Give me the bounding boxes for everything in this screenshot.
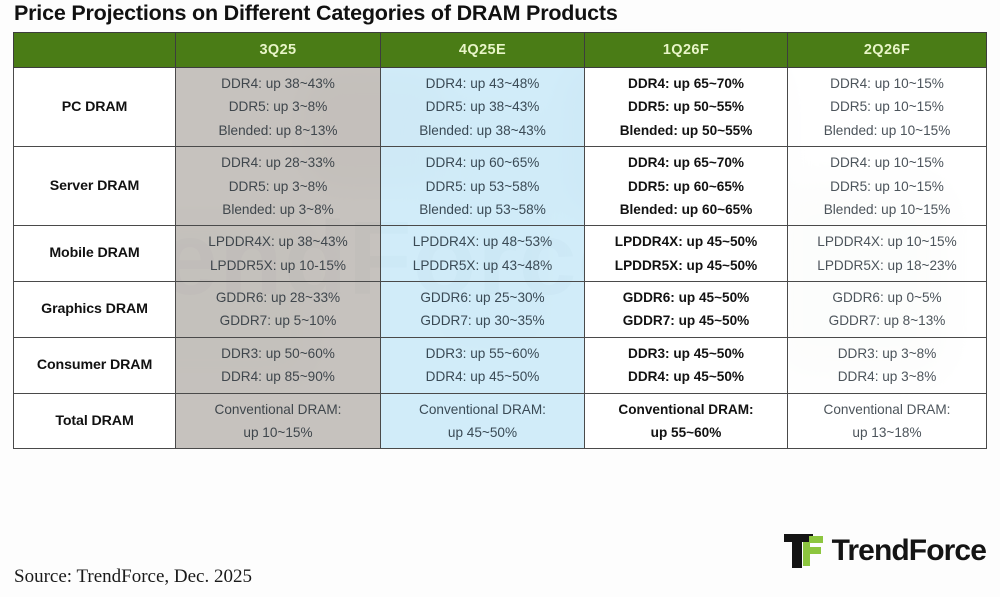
cell-line: Conventional DRAM: — [790, 398, 984, 421]
cell-line: DDR4: up 28~33% — [178, 151, 378, 174]
cell-line: LPDDR4X: up 48~53% — [383, 230, 582, 253]
cell-line: DDR5: up 50~55% — [587, 95, 785, 118]
cell-graphics-dram-4q25e: GDDR6: up 25~30%GDDR7: up 30~35% — [381, 282, 585, 338]
cell-line: Blended: up 8~13% — [178, 119, 378, 142]
cell-line: DDR5: up 3~8% — [178, 175, 378, 198]
row-header-graphics-dram: Graphics DRAM — [14, 282, 176, 338]
cell-consumer-dram-2q26f: DDR3: up 3~8%DDR4: up 3~8% — [788, 337, 987, 393]
cell-line: DDR5: up 38~43% — [383, 95, 582, 118]
cell-line: Blended: up 10~15% — [790, 198, 984, 221]
cell-consumer-dram-3q25: DDR3: up 50~60%DDR4: up 85~90% — [176, 337, 381, 393]
cell-line: Blended: up 60~65% — [587, 198, 785, 221]
cell-line: DDR3: up 3~8% — [790, 342, 984, 365]
cell-consumer-dram-1q26f: DDR3: up 45~50%DDR4: up 45~50% — [585, 337, 788, 393]
cell-line: DDR4: up 60~65% — [383, 151, 582, 174]
cell-line: DDR4: up 65~70% — [587, 72, 785, 95]
price-projection-table: 3Q25 4Q25E 1Q26F 2Q26F PC DRAMDDR4: up 3… — [13, 32, 986, 449]
cell-graphics-dram-3q25: GDDR6: up 28~33%GDDR7: up 5~10% — [176, 282, 381, 338]
cell-line: LPDDR4X: up 10~15% — [790, 230, 984, 253]
cell-mobile-dram-1q26f: LPDDR4X: up 45~50%LPDDR5X: up 45~50% — [585, 226, 788, 282]
cell-server-dram-3q25: DDR4: up 28~33%DDR5: up 3~8%Blended: up … — [176, 147, 381, 226]
table-row: Server DRAMDDR4: up 28~33%DDR5: up 3~8%B… — [14, 147, 987, 226]
table-row: Consumer DRAMDDR3: up 50~60%DDR4: up 85~… — [14, 337, 987, 393]
cell-line: DDR4: up 38~43% — [178, 72, 378, 95]
header-cell-corner — [14, 33, 176, 68]
cell-line: DDR4: up 3~8% — [790, 365, 984, 388]
row-header-pc-dram: PC DRAM — [14, 68, 176, 147]
cell-line: Blended: up 38~43% — [383, 119, 582, 142]
cell-server-dram-1q26f: DDR4: up 65~70%DDR5: up 60~65%Blended: u… — [585, 147, 788, 226]
cell-line: GDDR7: up 45~50% — [587, 309, 785, 332]
cell-pc-dram-3q25: DDR4: up 38~43%DDR5: up 3~8%Blended: up … — [176, 68, 381, 147]
cell-pc-dram-1q26f: DDR4: up 65~70%DDR5: up 50~55%Blended: u… — [585, 68, 788, 147]
cell-line: LPDDR4X: up 45~50% — [587, 230, 785, 253]
row-header-total-dram: Total DRAM — [14, 393, 176, 449]
header-cell-1q26f: 1Q26F — [585, 33, 788, 68]
header-cell-3q25: 3Q25 — [176, 33, 381, 68]
cell-mobile-dram-2q26f: LPDDR4X: up 10~15%LPDDR5X: up 18~23% — [788, 226, 987, 282]
cell-line: LPDDR5X: up 10-15% — [178, 254, 378, 277]
cell-line: GDDR6: up 25~30% — [383, 286, 582, 309]
cell-mobile-dram-4q25e: LPDDR4X: up 48~53%LPDDR5X: up 43~48% — [381, 226, 585, 282]
page-title: Price Projections on Different Categorie… — [14, 1, 618, 26]
cell-server-dram-2q26f: DDR4: up 10~15%DDR5: up 10~15%Blended: u… — [788, 147, 987, 226]
cell-consumer-dram-4q25e: DDR3: up 55~60%DDR4: up 45~50% — [381, 337, 585, 393]
cell-pc-dram-2q26f: DDR4: up 10~15%DDR5: up 10~15%Blended: u… — [788, 68, 987, 147]
cell-line: Blended: up 10~15% — [790, 119, 984, 142]
dram-price-table: 3Q25 4Q25E 1Q26F 2Q26F PC DRAMDDR4: up 3… — [13, 32, 987, 449]
table-row: Graphics DRAMGDDR6: up 28~33%GDDR7: up 5… — [14, 282, 987, 338]
row-header-consumer-dram: Consumer DRAM — [14, 337, 176, 393]
cell-line: DDR4: up 43~48% — [383, 72, 582, 95]
cell-graphics-dram-1q26f: GDDR6: up 45~50%GDDR7: up 45~50% — [585, 282, 788, 338]
cell-line: GDDR6: up 45~50% — [587, 286, 785, 309]
cell-line: DDR4: up 85~90% — [178, 365, 378, 388]
cell-line: LPDDR5X: up 43~48% — [383, 254, 582, 277]
cell-line: GDDR7: up 30~35% — [383, 309, 582, 332]
cell-line: LPDDR5X: up 18~23% — [790, 254, 984, 277]
cell-line: GDDR6: up 0~5% — [790, 286, 984, 309]
cell-line: Blended: up 3~8% — [178, 198, 378, 221]
cell-line: DDR4: up 45~50% — [587, 365, 785, 388]
cell-line: DDR4: up 10~15% — [790, 72, 984, 95]
cell-line: LPDDR4X: up 38~43% — [178, 230, 378, 253]
cell-total-dram-1q26f: Conventional DRAM:up 55~60% — [585, 393, 788, 449]
cell-line: GDDR6: up 28~33% — [178, 286, 378, 309]
cell-line: up 10~15% — [178, 421, 378, 444]
cell-line: Blended: up 50~55% — [587, 119, 785, 142]
cell-line: GDDR7: up 8~13% — [790, 309, 984, 332]
cell-server-dram-4q25e: DDR4: up 60~65%DDR5: up 53~58%Blended: u… — [381, 147, 585, 226]
cell-line: GDDR7: up 5~10% — [178, 309, 378, 332]
cell-total-dram-2q26f: Conventional DRAM:up 13~18% — [788, 393, 987, 449]
source-caption: Source: TrendForce, Dec. 2025 — [14, 566, 252, 588]
trendforce-logo: TrendForce — [783, 533, 986, 569]
cell-line: DDR4: up 45~50% — [383, 365, 582, 388]
row-header-mobile-dram: Mobile DRAM — [14, 226, 176, 282]
cell-line: Conventional DRAM: — [587, 398, 785, 421]
cell-line: DDR4: up 10~15% — [790, 151, 984, 174]
cell-line: Conventional DRAM: — [383, 398, 582, 421]
header-cell-4q25e: 4Q25E — [381, 33, 585, 68]
cell-line: DDR4: up 65~70% — [587, 151, 785, 174]
cell-line: DDR5: up 53~58% — [383, 175, 582, 198]
cell-line: Conventional DRAM: — [178, 398, 378, 421]
table-row: PC DRAMDDR4: up 38~43%DDR5: up 3~8%Blend… — [14, 68, 987, 147]
cell-line: DDR5: up 60~65% — [587, 175, 785, 198]
header-row: 3Q25 4Q25E 1Q26F 2Q26F — [14, 33, 987, 68]
cell-line: DDR5: up 3~8% — [178, 95, 378, 118]
table-body: PC DRAMDDR4: up 38~43%DDR5: up 3~8%Blend… — [14, 68, 987, 449]
cell-line: Blended: up 53~58% — [383, 198, 582, 221]
cell-line: up 55~60% — [587, 421, 785, 444]
cell-line: DDR3: up 55~60% — [383, 342, 582, 365]
cell-line: up 13~18% — [790, 421, 984, 444]
cell-line: DDR5: up 10~15% — [790, 95, 984, 118]
cell-line: up 45~50% — [383, 421, 582, 444]
page-root: TrendForce Price Projections on Differen… — [0, 0, 1000, 597]
table-row: Mobile DRAMLPDDR4X: up 38~43%LPDDR5X: up… — [14, 226, 987, 282]
cell-graphics-dram-2q26f: GDDR6: up 0~5%GDDR7: up 8~13% — [788, 282, 987, 338]
cell-total-dram-4q25e: Conventional DRAM:up 45~50% — [381, 393, 585, 449]
trendforce-logo-mark — [783, 533, 825, 569]
table-row: Total DRAMConventional DRAM:up 10~15%Con… — [14, 393, 987, 449]
header-cell-2q26f: 2Q26F — [788, 33, 987, 68]
cell-line: DDR3: up 50~60% — [178, 342, 378, 365]
cell-pc-dram-4q25e: DDR4: up 43~48%DDR5: up 38~43%Blended: u… — [381, 68, 585, 147]
cell-line: LPDDR5X: up 45~50% — [587, 254, 785, 277]
table-header: 3Q25 4Q25E 1Q26F 2Q26F — [14, 33, 987, 68]
trendforce-logo-text: TrendForce — [832, 536, 986, 566]
cell-mobile-dram-3q25: LPDDR4X: up 38~43%LPDDR5X: up 10-15% — [176, 226, 381, 282]
cell-total-dram-3q25: Conventional DRAM:up 10~15% — [176, 393, 381, 449]
cell-line: DDR3: up 45~50% — [587, 342, 785, 365]
row-header-server-dram: Server DRAM — [14, 147, 176, 226]
cell-line: DDR5: up 10~15% — [790, 175, 984, 198]
